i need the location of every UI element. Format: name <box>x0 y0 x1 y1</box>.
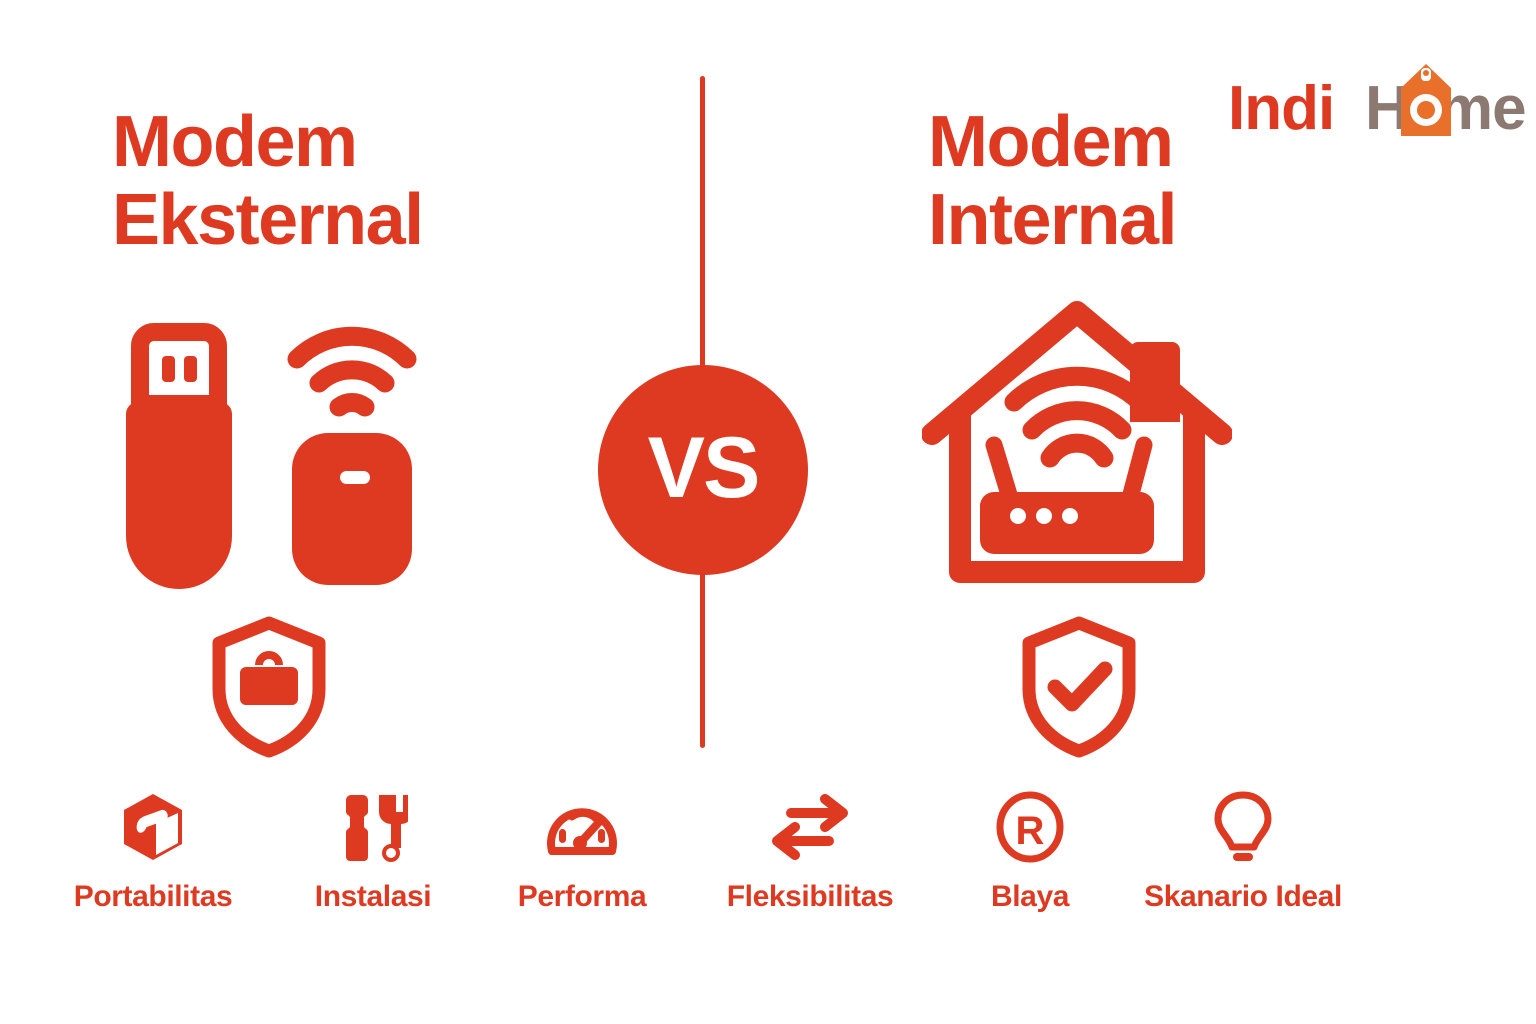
feature-label: Performa <box>467 880 697 914</box>
mobile-hotspot-wifi-icon <box>283 305 421 593</box>
feature-item-portabilitas: Portabilitas <box>38 788 268 914</box>
vs-label: VS <box>648 425 759 511</box>
feature-label: Blaya <box>915 880 1145 914</box>
speedometer-icon <box>467 788 697 866</box>
feature-label: Instalasi <box>258 880 488 914</box>
page-title-right: Modem Internal <box>928 104 1176 260</box>
shield-check-icon <box>1017 615 1141 759</box>
feature-label: Skanario Ideal <box>1128 880 1358 914</box>
lightbulb-icon <box>1128 788 1358 866</box>
feature-label: Fleksibilitas <box>695 880 925 914</box>
feature-row: Portabilitas Instalasi <box>0 788 1536 948</box>
feature-label: Portabilitas <box>38 880 268 914</box>
feature-item-skanario-ideal: Skanario Ideal <box>1128 788 1358 914</box>
house-o-icon <box>1399 62 1453 138</box>
infographic-canvas: Modem Eksternal Modem Internal VS Indi H… <box>0 0 1536 1024</box>
feature-item-blaya: R Blaya <box>915 788 1145 914</box>
vs-badge: VS <box>598 365 808 575</box>
page-title-left: Modem Eksternal <box>112 104 423 260</box>
usb-dongle-icon <box>118 322 240 594</box>
indihome-logo: Indi H me <box>1228 62 1508 158</box>
screwdriver-wrench-icon <box>258 788 488 866</box>
registered-r-icon: R <box>915 788 1145 866</box>
svg-text:R: R <box>1016 809 1045 853</box>
feature-item-performa: Performa <box>467 788 697 914</box>
exchange-arrows-icon <box>695 788 925 866</box>
feature-item-fleksibilitas: Fleksibilitas <box>695 788 925 914</box>
package-box-icon <box>38 788 268 866</box>
feature-item-instalasi: Instalasi <box>258 788 488 914</box>
shield-briefcase-icon <box>207 615 331 759</box>
logo-text-indi: Indi <box>1228 78 1334 140</box>
house-router-wifi-icon <box>922 300 1232 592</box>
